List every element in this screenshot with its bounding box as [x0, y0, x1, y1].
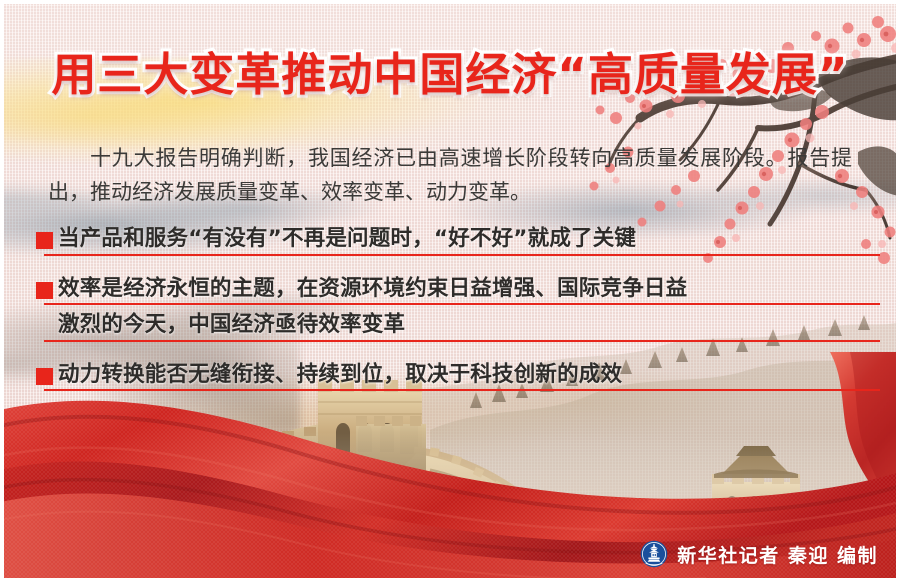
- bullet-square-marker: [36, 282, 53, 299]
- bullet-item-driver-reform: 动力转换能否无缝衔接、持续到位，取决于科技创新的成效: [0, 364, 900, 392]
- xinhua-logo-icon: [640, 540, 668, 568]
- bullet-square-marker: [36, 368, 53, 385]
- bullet-line: 效率是经济永恒的主题，在资源环境约束日益增强、国际竞争日益: [58, 278, 878, 306]
- bullet-text-block: 效率是经济永恒的主题，在资源环境约束日益增强、国际竞争日益 激烈的今天，中国经济…: [58, 278, 878, 342]
- credit-text: 新华社记者 秦迎 编制: [677, 541, 878, 568]
- bullet-list: 当产品和服务“有没有”不再是问题时，“好不好”就成了关键 效率是经济永恒的主题，…: [0, 228, 900, 401]
- bullet-line: 激烈的今天，中国经济亟待效率变革: [58, 314, 878, 342]
- bullet-text-block: 动力转换能否无缝衔接、持续到位，取决于科技创新的成效: [58, 364, 878, 392]
- page-title: 用三大变革推动中国经济“高质量发展”: [0, 52, 900, 97]
- bullet-square-marker: [36, 232, 53, 249]
- bullet-line: 当产品和服务“有没有”不再是问题时，“好不好”就成了关键: [58, 228, 878, 256]
- bullet-text-block: 当产品和服务“有没有”不再是问题时，“好不好”就成了关键: [58, 228, 878, 256]
- bullet-item-quality-reform: 当产品和服务“有没有”不再是问题时，“好不好”就成了关键: [0, 228, 900, 256]
- poster-content: 用三大变革推动中国经济“高质量发展” 十九大报告明确判断，我国经济已由高速增长阶…: [0, 0, 900, 582]
- intro-paragraph: 十九大报告明确判断，我国经济已由高速增长阶段转向高质量发展阶段。报告提出，推动经…: [48, 141, 852, 209]
- credit-line: 新华社记者 秦迎 编制: [640, 540, 878, 568]
- poster-canvas: 用三大变革推动中国经济“高质量发展” 十九大报告明确判断，我国经济已由高速增长阶…: [0, 0, 900, 582]
- bullet-item-efficiency-reform: 效率是经济永恒的主题，在资源环境约束日益增强、国际竞争日益 激烈的今天，中国经济…: [0, 278, 900, 342]
- bullet-line: 动力转换能否无缝衔接、持续到位，取决于科技创新的成效: [58, 364, 878, 392]
